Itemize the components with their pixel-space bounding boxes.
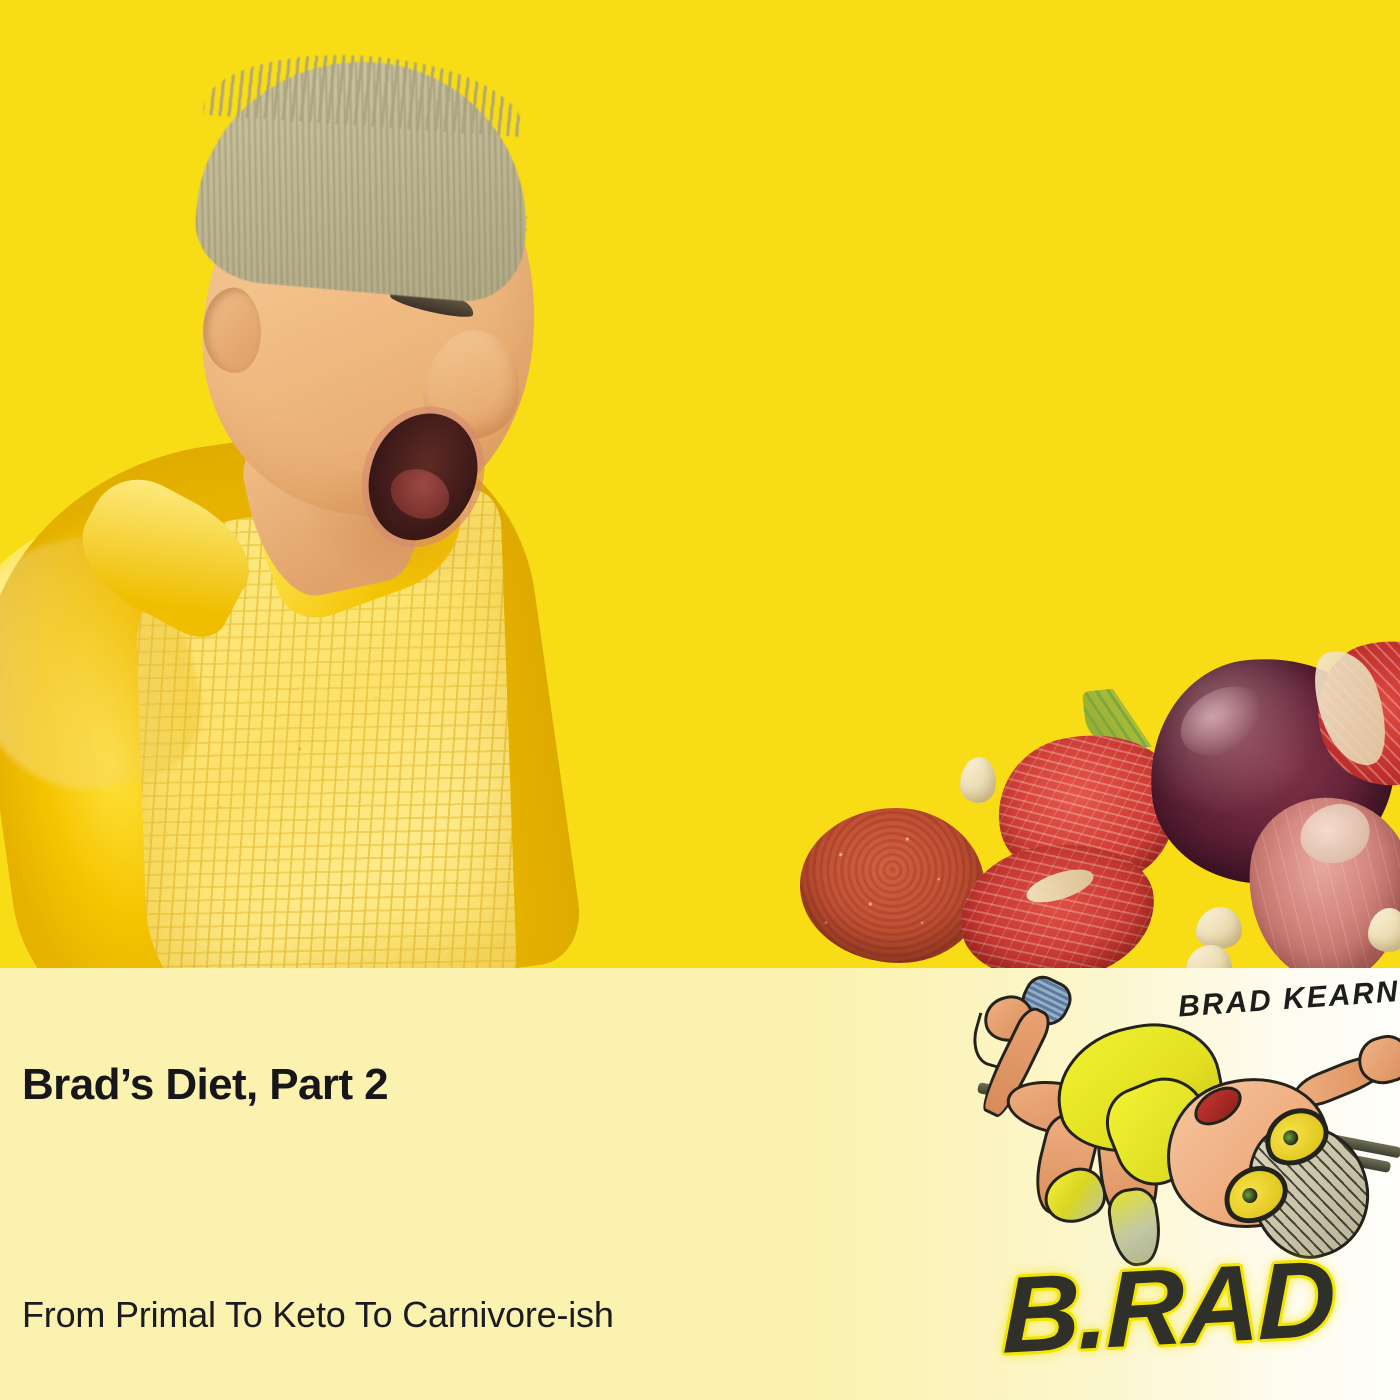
ground-beef-patty-image	[800, 808, 985, 963]
show-name-wordmark: B.RAD	[1002, 1235, 1334, 1378]
podcast-cover-art: Brad’s Diet, Part 2 From Primal To Keto …	[0, 0, 1400, 1400]
brad-kearns-logo: BRAD KEARNS B.RAD	[960, 972, 1400, 1400]
food-cluster	[0, 0, 1400, 968]
garlic-clove-icon	[960, 757, 996, 803]
episode-title: Brad’s Diet, Part 2	[22, 1060, 388, 1110]
hero-photo-panel	[0, 0, 1400, 968]
host-name-label: BRAD KEARNS	[1177, 974, 1400, 1025]
episode-subtitle: From Primal To Keto To Carnivore-ish	[22, 1294, 614, 1336]
garlic-clove-icon	[1196, 907, 1242, 949]
